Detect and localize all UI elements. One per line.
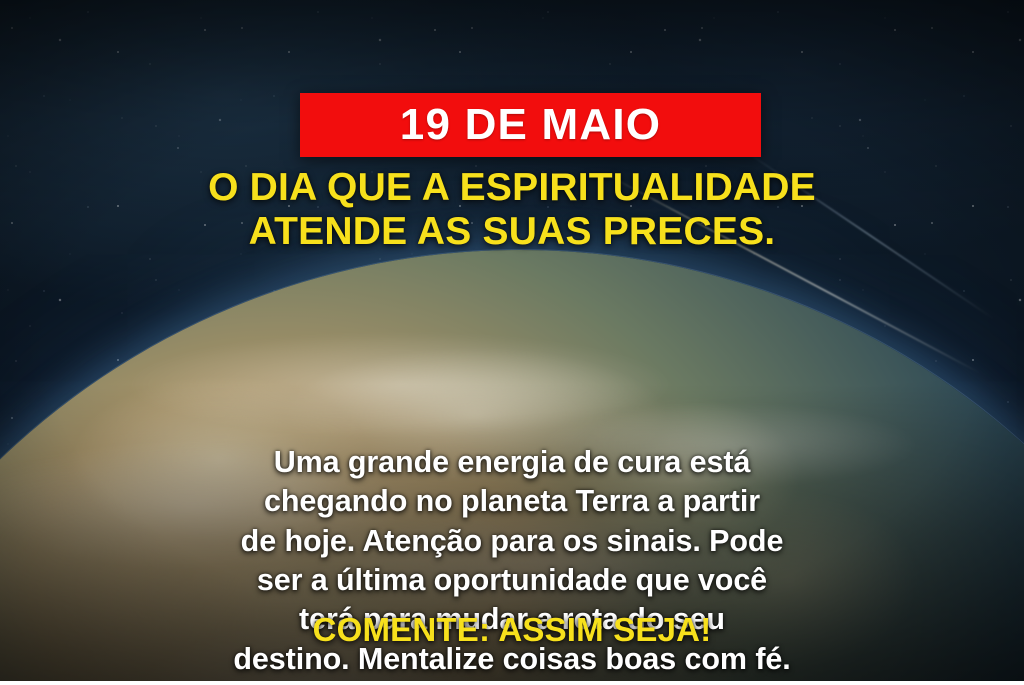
body-line-2: chegando no planeta Terra a partir [48,482,976,521]
body-line-1: Uma grande energia de cura está [48,443,976,482]
call-to-action-text: COMENTE: ASSIM SEJA! [0,612,1024,648]
body-line-4: ser a última oportunidade que você [48,561,976,600]
headline-line-1: O DIA QUE A ESPIRITUALIDADE [40,166,984,210]
date-banner: 19 DE MAIO [300,93,761,157]
bottom-white-strip [0,681,1024,685]
body-line-3: de hoje. Atenção para os sinais. Pode [48,522,976,561]
headline: O DIA QUE A ESPIRITUALIDADE ATENDE AS SU… [0,166,1024,253]
poster-canvas: 19 DE MAIO O DIA QUE A ESPIRITUALIDADE A… [0,0,1024,685]
date-banner-text: 19 DE MAIO [400,103,661,147]
headline-line-2: ATENDE AS SUAS PRECES. [40,210,984,254]
